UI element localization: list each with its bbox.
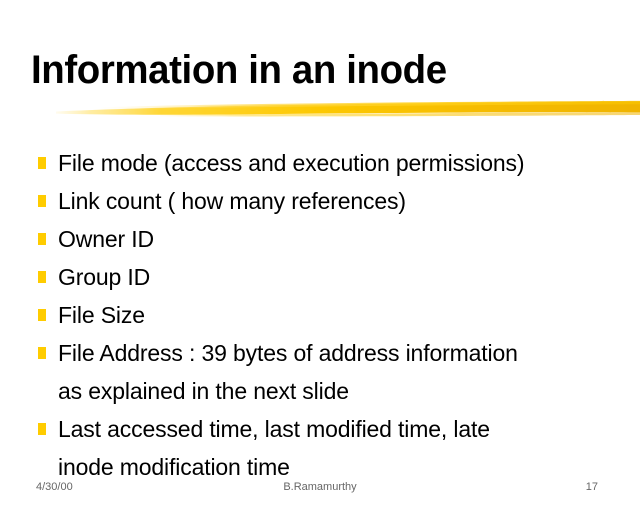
square-bullet-icon xyxy=(38,233,46,245)
list-item-label: Owner ID xyxy=(58,220,632,258)
page-title: Information in an inode xyxy=(31,47,447,93)
list-item: Last accessed time, last modified time, … xyxy=(36,410,632,486)
presentation-slide: Information in an inode File xyxy=(0,0,640,512)
list-item-label: Last accessed time, last modified time, … xyxy=(58,410,632,486)
list-item-label: File Size xyxy=(58,296,632,334)
slide-footer: 4/30/00 B.Ramamurthy 17 xyxy=(0,480,640,498)
square-bullet-icon xyxy=(38,195,46,207)
brush-stroke-divider xyxy=(40,96,640,122)
list-item-label: Group ID xyxy=(58,258,632,296)
list-item: File mode (access and execution permissi… xyxy=(36,144,632,182)
square-bullet-icon xyxy=(38,423,46,435)
square-bullet-icon xyxy=(38,309,46,321)
list-item: Owner ID xyxy=(36,220,632,258)
square-bullet-icon xyxy=(38,271,46,283)
list-item: Link count ( how many references) xyxy=(36,182,632,220)
list-item-label: File mode (access and execution permissi… xyxy=(58,144,632,182)
bullet-list: File mode (access and execution permissi… xyxy=(36,144,632,486)
list-item: Group ID xyxy=(36,258,632,296)
list-item: File Size xyxy=(36,296,632,334)
list-item-label: File Address : 39 bytes of address infor… xyxy=(58,334,632,410)
square-bullet-icon xyxy=(38,347,46,359)
list-item-label: Link count ( how many references) xyxy=(58,182,632,220)
square-bullet-icon xyxy=(38,157,46,169)
list-item: File Address : 39 bytes of address infor… xyxy=(36,334,632,410)
footer-page-number: 17 xyxy=(0,480,598,494)
